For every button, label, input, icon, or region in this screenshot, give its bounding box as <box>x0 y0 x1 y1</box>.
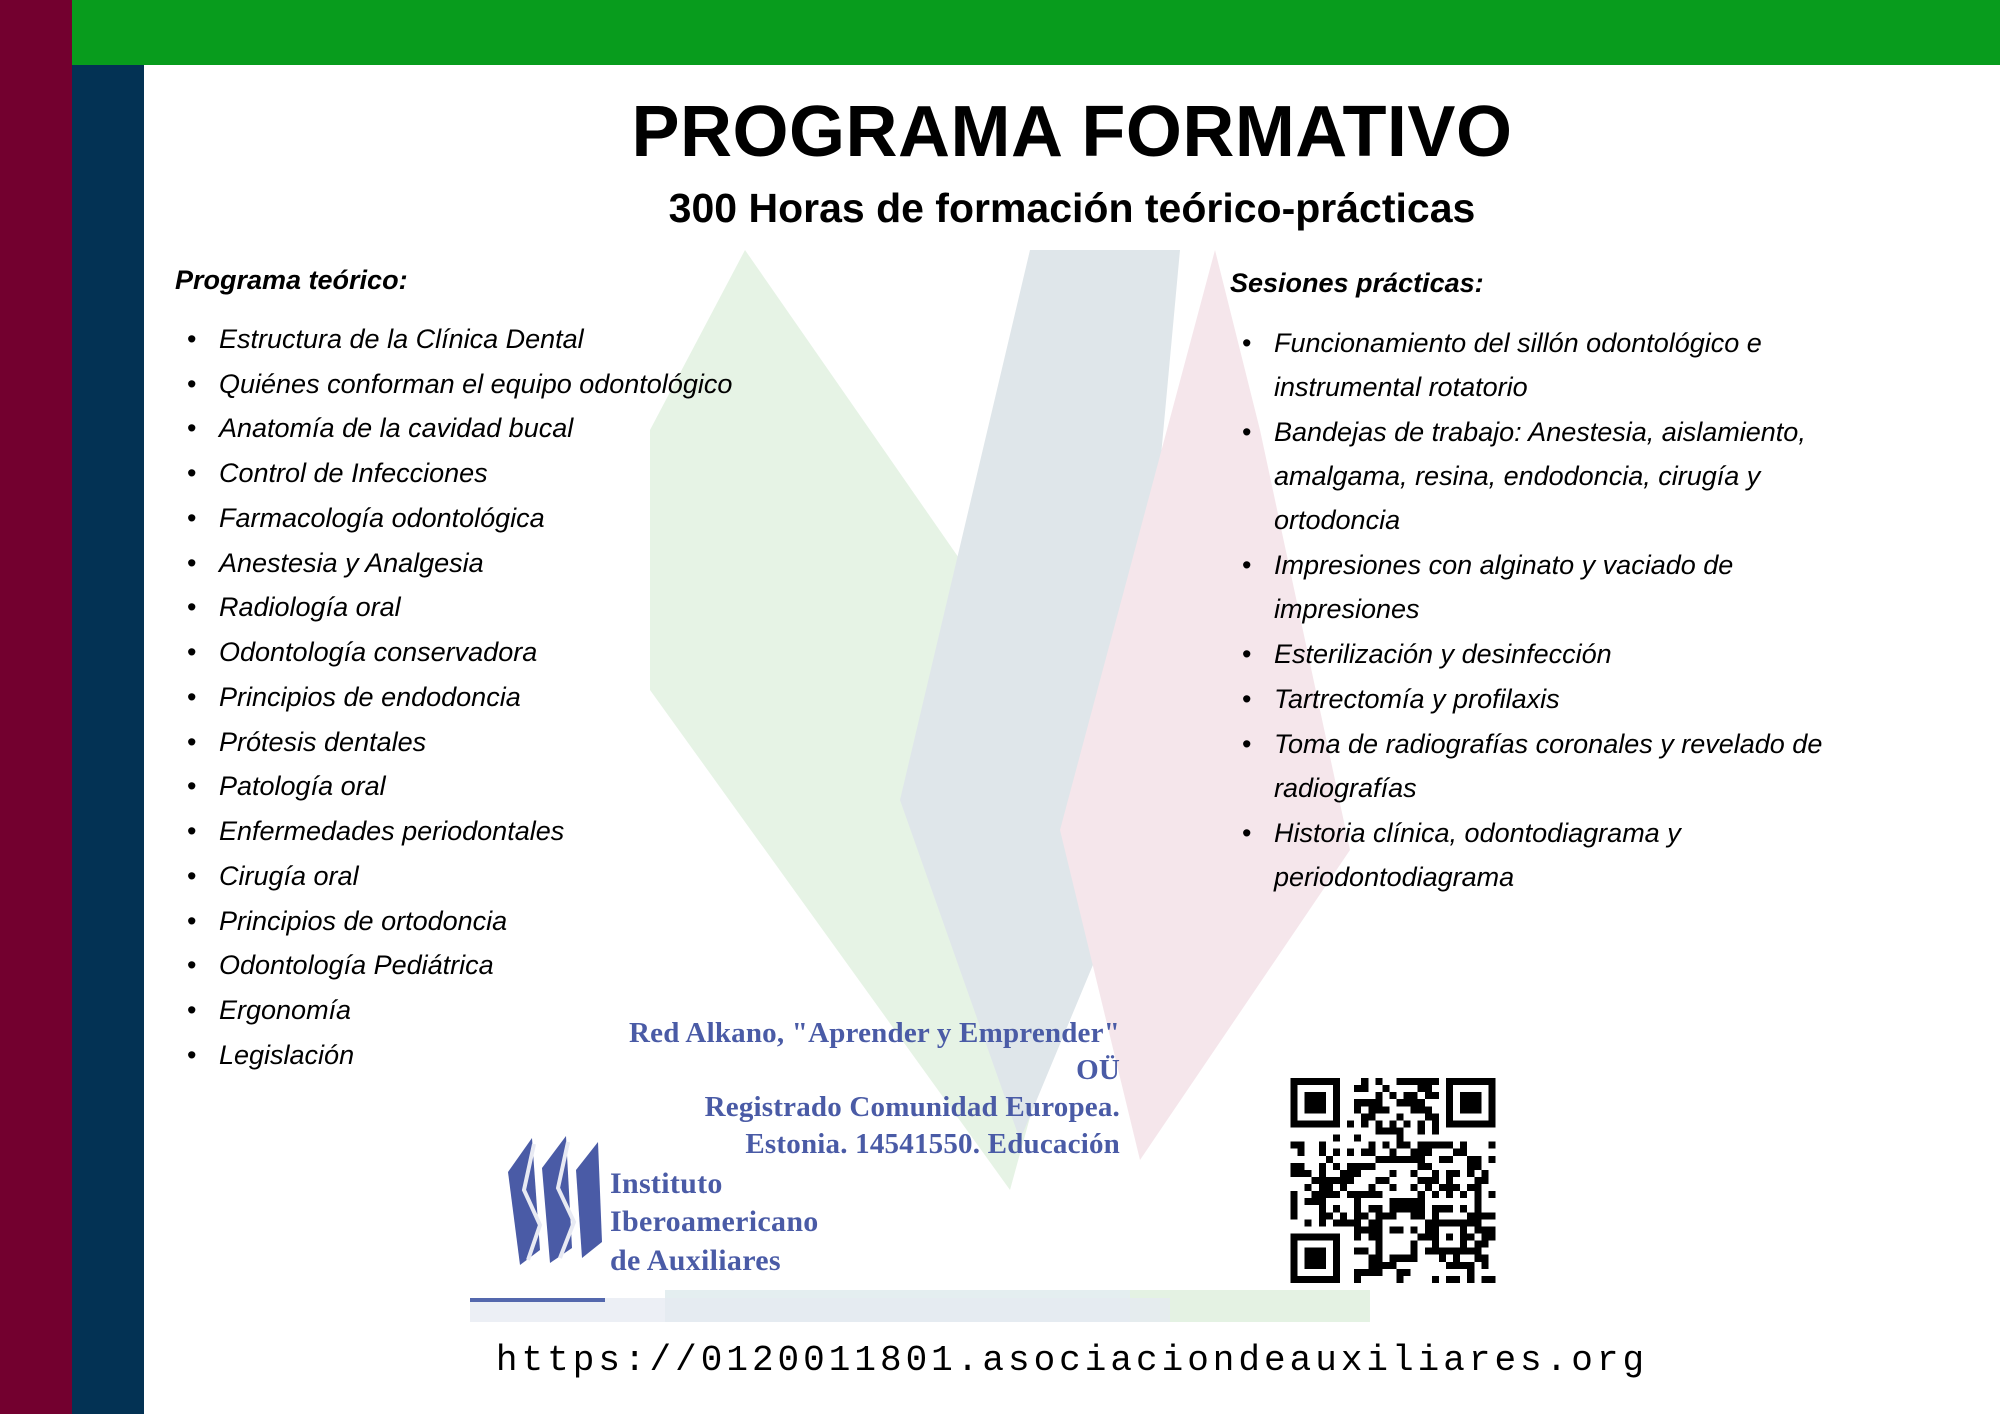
poster-header: PROGRAMA FORMATIVO 300 Horas de formació… <box>144 95 2000 232</box>
list-item: Principios de ortodoncia <box>175 900 735 944</box>
left-accent-bar-navy <box>72 65 144 1414</box>
list-item: Odontología Pediátrica <box>175 944 735 988</box>
list-item: Farmacología odontológica <box>175 497 735 541</box>
list-item: Radiología oral <box>175 586 735 630</box>
list-item: Principios de endodoncia <box>175 676 735 720</box>
footer-url[interactable]: https://0120011801.asociaciondeauxiliare… <box>144 1340 2000 1381</box>
institute-name-line-1: Instituto <box>610 1165 819 1203</box>
institute-name: Instituto Iberoamericano de Auxiliares <box>610 1165 819 1280</box>
list-item: Estructura de la Clínica Dental <box>175 318 735 362</box>
logo-registration-lines: Red Alkano, "Aprender y Emprender" OÜ Re… <box>600 1015 1120 1163</box>
list-item: Enfermedades periodontales <box>175 810 735 854</box>
list-item: Funcionamiento del sillón odontológico e… <box>1230 321 1870 409</box>
list-item: Esterilización y desinfección <box>1230 632 1870 676</box>
theory-column: Programa teórico: Estructura de la Clíni… <box>175 265 735 1078</box>
page-title: PROGRAMA FORMATIVO <box>144 95 2000 171</box>
list-item: Prótesis dentales <box>175 721 735 765</box>
list-item: Impresiones con alginato y vaciado de im… <box>1230 543 1870 631</box>
list-item: Tartrectomía y profilaxis <box>1230 677 1870 721</box>
list-item: Odontología conservadora <box>175 631 735 675</box>
institute-name-line-3: de Auxiliares <box>610 1242 819 1280</box>
top-accent-bar-green <box>72 0 2000 65</box>
theory-list: Estructura de la Clínica Dental Quiénes … <box>175 318 735 1077</box>
list-item: Toma de radiografías coronales y revelad… <box>1230 722 1870 810</box>
logo-line-1: Red Alkano, "Aprender y Emprender" OÜ <box>600 1015 1120 1089</box>
qr-code[interactable] <box>1288 1078 1498 1283</box>
theory-heading: Programa teórico: <box>175 265 735 296</box>
practice-list: Funcionamiento del sillón odontológico e… <box>1230 321 1870 899</box>
logo-line-2: Registrado Comunidad Europea. <box>600 1089 1120 1126</box>
list-item: Control de Infecciones <box>175 452 735 496</box>
list-item: Bandejas de trabajo: Anestesia, aislamie… <box>1230 410 1870 542</box>
list-item: Patología oral <box>175 765 735 809</box>
left-accent-bar-maroon <box>0 0 72 1414</box>
list-item: Historia clínica, odontodiagrama y perio… <box>1230 811 1870 899</box>
page-subtitle: 300 Horas de formación teórico-prácticas <box>144 185 2000 232</box>
poster-canvas: PROGRAMA FORMATIVO 300 Horas de formació… <box>0 0 2000 1414</box>
list-item: Cirugía oral <box>175 855 735 899</box>
list-item: Anatomía de la cavidad bucal <box>175 407 735 451</box>
qr-code-image[interactable] <box>1288 1078 1498 1283</box>
institute-name-line-2: Iberoamericano <box>610 1203 819 1241</box>
list-item: Quiénes conforman el equipo odontológico <box>175 363 735 407</box>
institute-logo-icon <box>490 1130 625 1280</box>
logo-underline <box>470 1298 605 1302</box>
organization-logo-block: Red Alkano, "Aprender y Emprender" OÜ Re… <box>600 1015 1120 1163</box>
list-item: Anestesia y Analgesia <box>175 542 735 586</box>
logo-line-3: Estonia. 14541550. Educación <box>600 1126 1120 1163</box>
practice-heading: Sesiones prácticas: <box>1230 268 1870 299</box>
practice-column: Sesiones prácticas: Funcionamiento del s… <box>1230 268 1870 900</box>
